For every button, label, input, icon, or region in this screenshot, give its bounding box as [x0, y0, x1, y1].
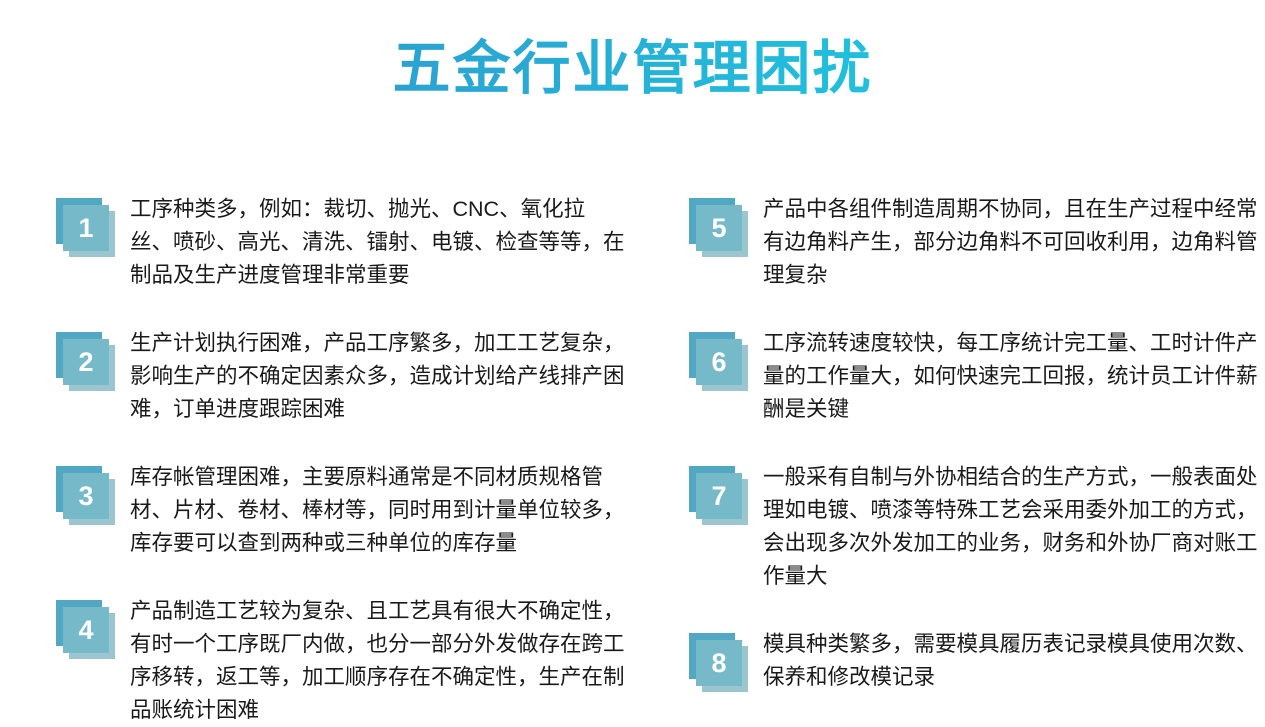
badge-main-layer: 3: [63, 473, 109, 519]
badge-main-layer: 4: [63, 607, 109, 653]
badge-number: 4: [78, 617, 93, 644]
badge-number: 6: [711, 349, 726, 376]
number-badge: 1: [56, 198, 118, 260]
number-badge: 3: [56, 466, 118, 528]
badge-number: 2: [78, 349, 93, 376]
badge-main-layer: 7: [696, 473, 742, 519]
list-item: 5 产品中各组件制造周期不协同，且在生产过程中经常有边角料产生，部分边角料不可回…: [689, 186, 1261, 292]
number-badge: 6: [689, 332, 751, 394]
badge-number: 8: [711, 650, 726, 677]
badge-main-layer: 8: [696, 640, 742, 686]
list-item: 1 工序种类多，例如：裁切、抛光、CNC、氧化拉丝、喷砂、高光、清洗、镭射、电镀…: [56, 186, 626, 292]
list-item-text: 一般采有自制与外协相结合的生产方式，一般表面处理如电镀、喷漆等特殊工艺会采用委外…: [763, 454, 1261, 593]
column-right: 5 产品中各组件制造周期不协同，且在生产过程中经常有边角料产生，部分边角料不可回…: [632, 186, 1265, 686]
list-item-text: 产品中各组件制造周期不协同，且在生产过程中经常有边角料产生，部分边角料不可回收利…: [763, 186, 1261, 292]
badge-main-layer: 6: [696, 339, 742, 385]
list-item-text: 工序流转速度较快，每工序统计完工量、工时计件产量的工作量大，如何快速完工回报，统…: [763, 320, 1261, 426]
list-item-text: 产品制造工艺较为复杂、且工艺具有很大不确定性，有时一个工序既厂内做，也分一部分外…: [130, 588, 626, 727]
badge-number: 1: [78, 215, 93, 242]
badge-number: 3: [78, 483, 93, 510]
badge-main-layer: 1: [63, 205, 109, 251]
page-title: 五金行业管理困扰: [0, 36, 1265, 103]
column-left: 1 工序种类多，例如：裁切、抛光、CNC、氧化拉丝、喷砂、高光、清洗、镭射、电镀…: [0, 186, 632, 686]
list-item-text: 库存帐管理困难，主要原料通常是不同材质规格管材、片材、卷材、棒材等，同时用到计量…: [130, 454, 626, 560]
list-item: 2 生产计划执行困难，产品工序繁多，加工工艺复杂，影响生产的不确定因素众多，造成…: [56, 320, 626, 426]
list-item: 4 产品制造工艺较为复杂、且工艺具有很大不确定性，有时一个工序既厂内做，也分一部…: [56, 588, 626, 727]
badge-main-layer: 5: [696, 205, 742, 251]
list-item: 3 库存帐管理困难，主要原料通常是不同材质规格管材、片材、卷材、棒材等，同时用到…: [56, 454, 626, 560]
badge-number: 7: [711, 483, 726, 510]
number-badge: 2: [56, 332, 118, 394]
badge-main-layer: 2: [63, 339, 109, 385]
number-badge: 4: [56, 600, 118, 662]
number-badge: 5: [689, 198, 751, 260]
number-badge: 8: [689, 633, 751, 695]
list-item: 8 模具种类繁多，需要模具履历表记录模具使用次数、保养和修改模记录: [689, 621, 1261, 695]
list-item: 6 工序流转速度较快，每工序统计完工量、工时计件产量的工作量大，如何快速完工回报…: [689, 320, 1261, 426]
list-item-text: 工序种类多，例如：裁切、抛光、CNC、氧化拉丝、喷砂、高光、清洗、镭射、电镀、检…: [130, 186, 626, 292]
content-columns: 1 工序种类多，例如：裁切、抛光、CNC、氧化拉丝、喷砂、高光、清洗、镭射、电镀…: [0, 186, 1265, 686]
number-badge: 7: [689, 466, 751, 528]
list-item: 7 一般采有自制与外协相结合的生产方式，一般表面处理如电镀、喷漆等特殊工艺会采用…: [689, 454, 1261, 593]
list-item-text: 模具种类繁多，需要模具履历表记录模具使用次数、保养和修改模记录: [763, 621, 1261, 694]
list-item-text: 生产计划执行困难，产品工序繁多，加工工艺复杂，影响生产的不确定因素众多，造成计划…: [130, 320, 626, 426]
badge-number: 5: [711, 215, 726, 242]
